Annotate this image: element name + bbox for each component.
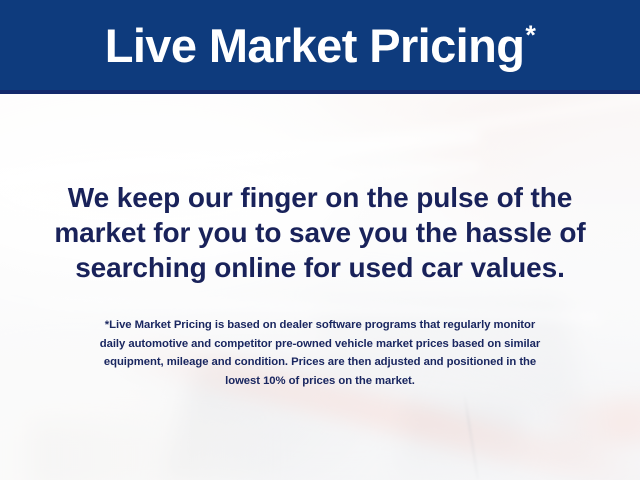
disclaimer-line: *Live Market Pricing is based on dealer … xyxy=(26,316,614,335)
disclaimer-line: equipment, mileage and condition. Prices… xyxy=(26,353,614,372)
disclaimer-line: lowest 10% of prices on the market. xyxy=(26,372,614,391)
live-market-pricing-banner: Live Market Pricing* We keep our finger … xyxy=(0,0,640,480)
headline-line: searching online for used car values. xyxy=(28,250,612,285)
page-title: Live Market Pricing* xyxy=(0,0,640,90)
disclaimer-block: *Live Market Pricing is based on dealer … xyxy=(26,316,614,390)
page-title-text: Live Market Pricing xyxy=(105,22,525,69)
page-title-asterisk: * xyxy=(525,22,535,49)
header-bottom-rule xyxy=(0,90,640,94)
headline-line: We keep our finger on the pulse of the xyxy=(28,180,612,215)
headline-block: We keep our finger on the pulse of the m… xyxy=(28,180,612,285)
disclaimer-line: daily automotive and competitor pre-owne… xyxy=(26,335,614,354)
headline-line: market for you to save you the hassle of xyxy=(28,215,612,250)
